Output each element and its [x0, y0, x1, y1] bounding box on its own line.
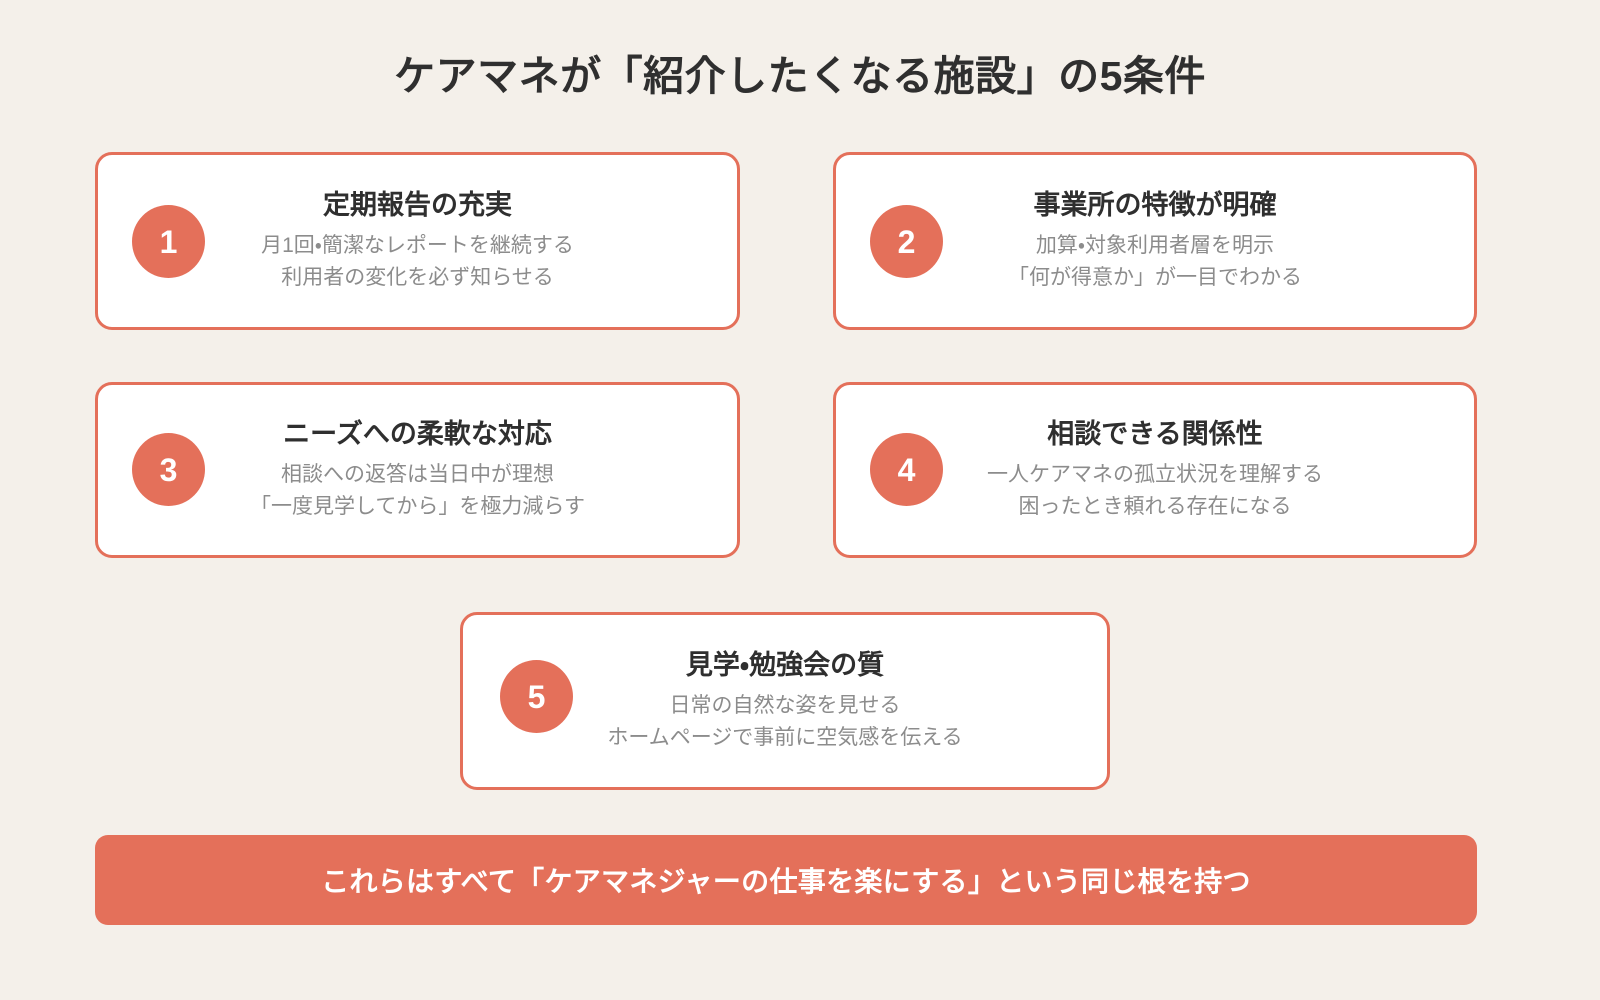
condition-card-desc-line-1: 一人ケアマネの孤立状況を理解する	[862, 459, 1448, 491]
condition-card-title: 相談できる関係性	[862, 417, 1448, 452]
condition-card-title: ニーズへの柔軟な対応	[124, 417, 711, 452]
condition-number-badge-5: 5	[500, 660, 573, 733]
condition-card-desc-line-1: 相談への返答は当日中が理想	[124, 459, 711, 491]
condition-card-desc-line-2: 「一度見学してから」を極力減らす	[124, 491, 711, 523]
condition-card-desc-line-2: 「何が得意か」が一目でわかる	[862, 262, 1448, 294]
condition-card-title: 定期報告の充実	[124, 188, 711, 223]
condition-card-title: 見学・勉強会の質	[489, 648, 1081, 683]
summary-banner: これらはすべて「ケアマネジャーの仕事を楽にする」という同じ根を持つ	[95, 835, 1477, 925]
condition-number-badge-3: 3	[132, 433, 205, 506]
summary-banner-text: これらはすべて「ケアマネジャーの仕事を楽にする」という同じ根を持つ	[321, 860, 1251, 900]
condition-card-desc-line-2: 困ったとき頼れる存在になる	[862, 491, 1448, 523]
condition-number-badge-1: 1	[132, 205, 205, 278]
condition-card-title: 事業所の特徴が明確	[862, 188, 1448, 223]
condition-card-desc-line-1: 日常の自然な姿を見せる	[489, 690, 1081, 722]
condition-card-desc-line-2: 利用者の変化を必ず知らせる	[124, 262, 711, 294]
condition-card-desc-line-1: 月1回・簡潔なレポートを継続する	[124, 230, 711, 262]
condition-card-desc-line-2: ホームページで事前に空気感を伝える	[489, 722, 1081, 754]
condition-number-badge-4: 4	[870, 433, 943, 506]
condition-number-badge-2: 2	[870, 205, 943, 278]
condition-card-desc-line-1: 加算・対象利用者層を明示	[862, 230, 1448, 262]
